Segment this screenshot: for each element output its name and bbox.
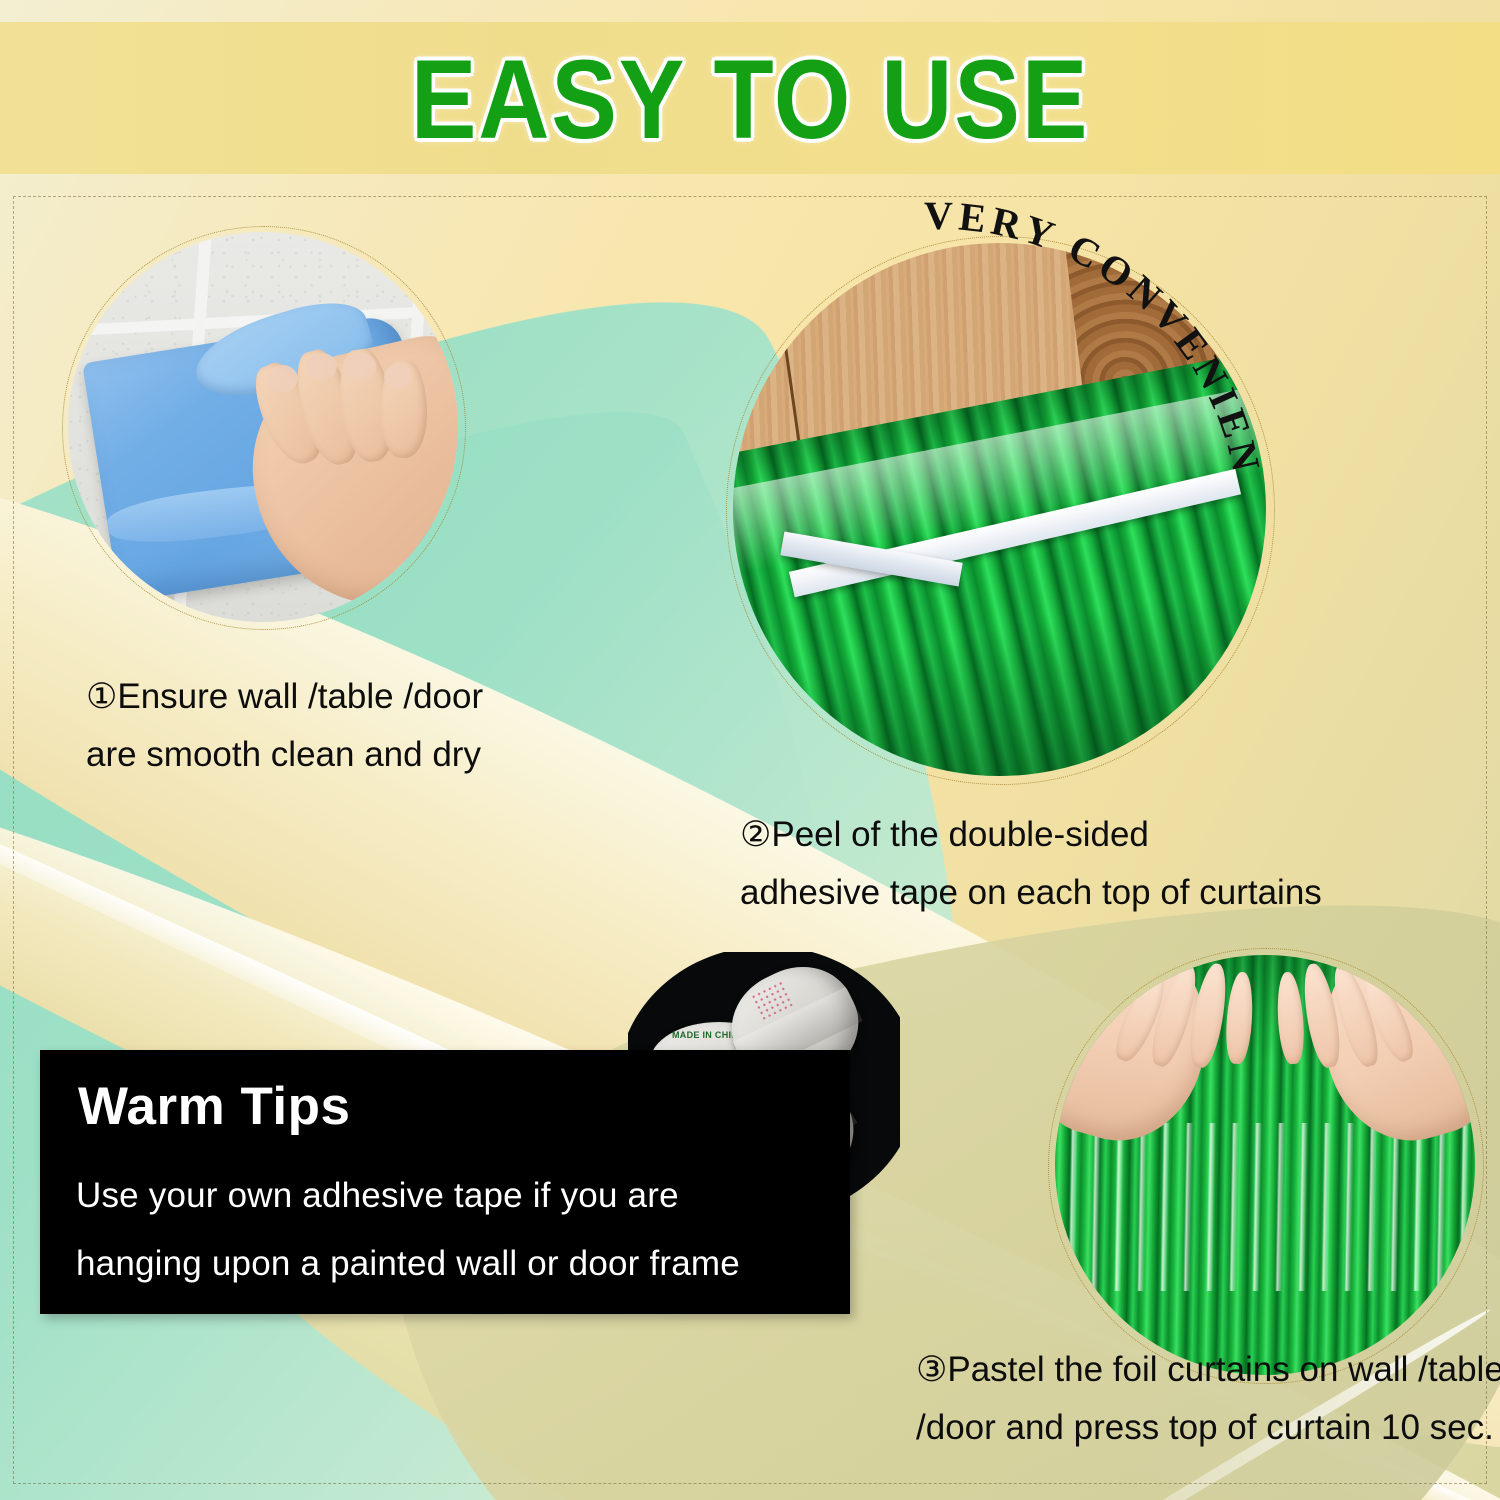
step-3-caption-line-2: /door and press top of curtain 10 sec. [916,1399,1500,1457]
warm-tips-line-2: hanging upon a painted wall or door fram… [76,1244,740,1284]
step-1-caption-line-2: are smooth clean and dry [86,726,483,784]
very-convenient-badge: VERY CONVENIENT [905,160,1385,500]
step-2-caption: ②Peel of the double-sided adhesive tape … [740,806,1322,922]
warm-tips-line-1: Use your own adhesive tape if you are [76,1176,679,1216]
fringe-gloss [1055,1123,1475,1291]
warm-tips-card: Warm Tips Use your own adhesive tape if … [40,1050,850,1314]
fingernail [267,365,298,392]
infographic-canvas: EASY TO USE [0,0,1500,1500]
step-2-caption-line-1: ②Peel of the double-sided [740,806,1322,864]
fingernail [384,365,411,388]
page-title: EASY TO USE [90,36,1410,162]
press-curtain-photo [1055,955,1475,1375]
step-2-caption-line-2: adhesive tape on each top of curtains [740,864,1322,922]
step-3-caption: ③Pastel the foil curtains on wall /table… [916,1341,1500,1457]
step-1-caption: ①Ensure wall /table /door are smooth cle… [86,668,483,784]
step-3-caption-line-1: ③Pastel the foil curtains on wall /table [916,1341,1500,1399]
very-convenient-label: VERY CONVENIENT [889,124,1270,480]
step-1-caption-line-1: ①Ensure wall /table /door [86,668,483,726]
fingernail [306,353,337,380]
warm-tips-title: Warm Tips [78,1076,351,1137]
clean-surface-photo [68,232,458,622]
fingernail [345,353,376,380]
